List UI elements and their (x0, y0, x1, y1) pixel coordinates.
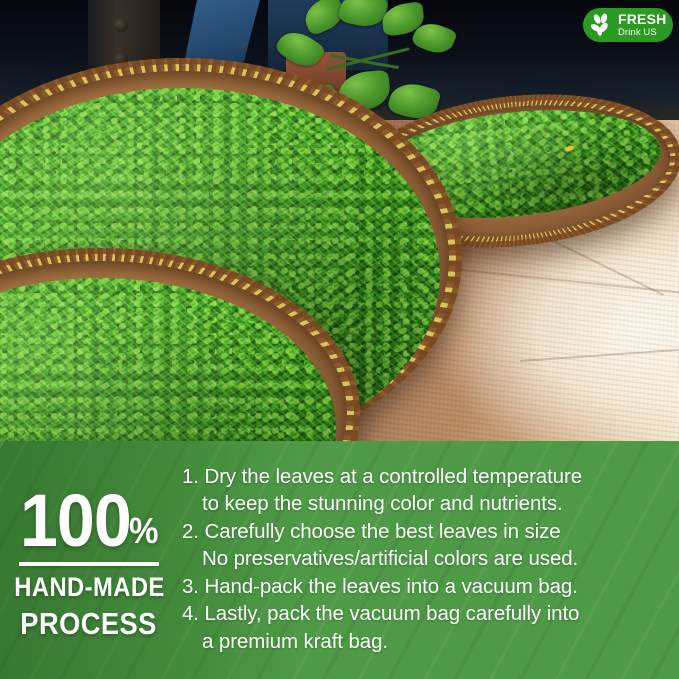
plant-leaf (337, 0, 389, 30)
brand-logo-text: FRESH Drink US (618, 12, 666, 38)
floor-seam (520, 347, 679, 362)
product-infographic: FRESH Drink US 100% HAND-MADE PROCESS 1.… (0, 0, 679, 679)
percent-number: 100 (20, 487, 131, 555)
post-bolt-icon (114, 18, 128, 32)
brand-tagline: Drink US (618, 28, 666, 38)
process-panel: 100% HAND-MADE PROCESS 1. Dry the leaves… (0, 441, 679, 679)
brand-logo-badge[interactable]: FRESH Drink US (583, 8, 673, 42)
product-photo: FRESH Drink US (0, 0, 679, 441)
chopped-leaves (0, 278, 336, 441)
step-line: 1. Dry the leaves at a controlled temper… (182, 463, 665, 490)
percent-symbol: % (129, 513, 158, 549)
step-line: 4. Lastly, pack the vacuum bag carefully… (182, 600, 665, 627)
step-line: 3. Hand-pack the leaves into a vacuum ba… (182, 573, 665, 600)
step-line: a premium kraft bag. (182, 628, 665, 655)
process-steps-list: 1. Dry the leaves at a controlled temper… (178, 441, 679, 679)
leaf-cluster-icon (588, 12, 614, 38)
step-line: No preservatives/artificial colors are u… (182, 545, 665, 572)
stamp-line-2: PROCESS (21, 608, 157, 639)
percent-badge: 100% (20, 487, 158, 555)
stamp-line-1: HAND-MADE (14, 574, 164, 601)
brand-name: FRESH (618, 12, 666, 26)
step-line: 2. Carefully choose the best leaves in s… (182, 518, 665, 545)
step-line: to keep the stunning color and nutrients… (182, 490, 665, 517)
hand-made-stamp: 100% HAND-MADE PROCESS (0, 441, 178, 679)
floor-seam (455, 268, 679, 295)
